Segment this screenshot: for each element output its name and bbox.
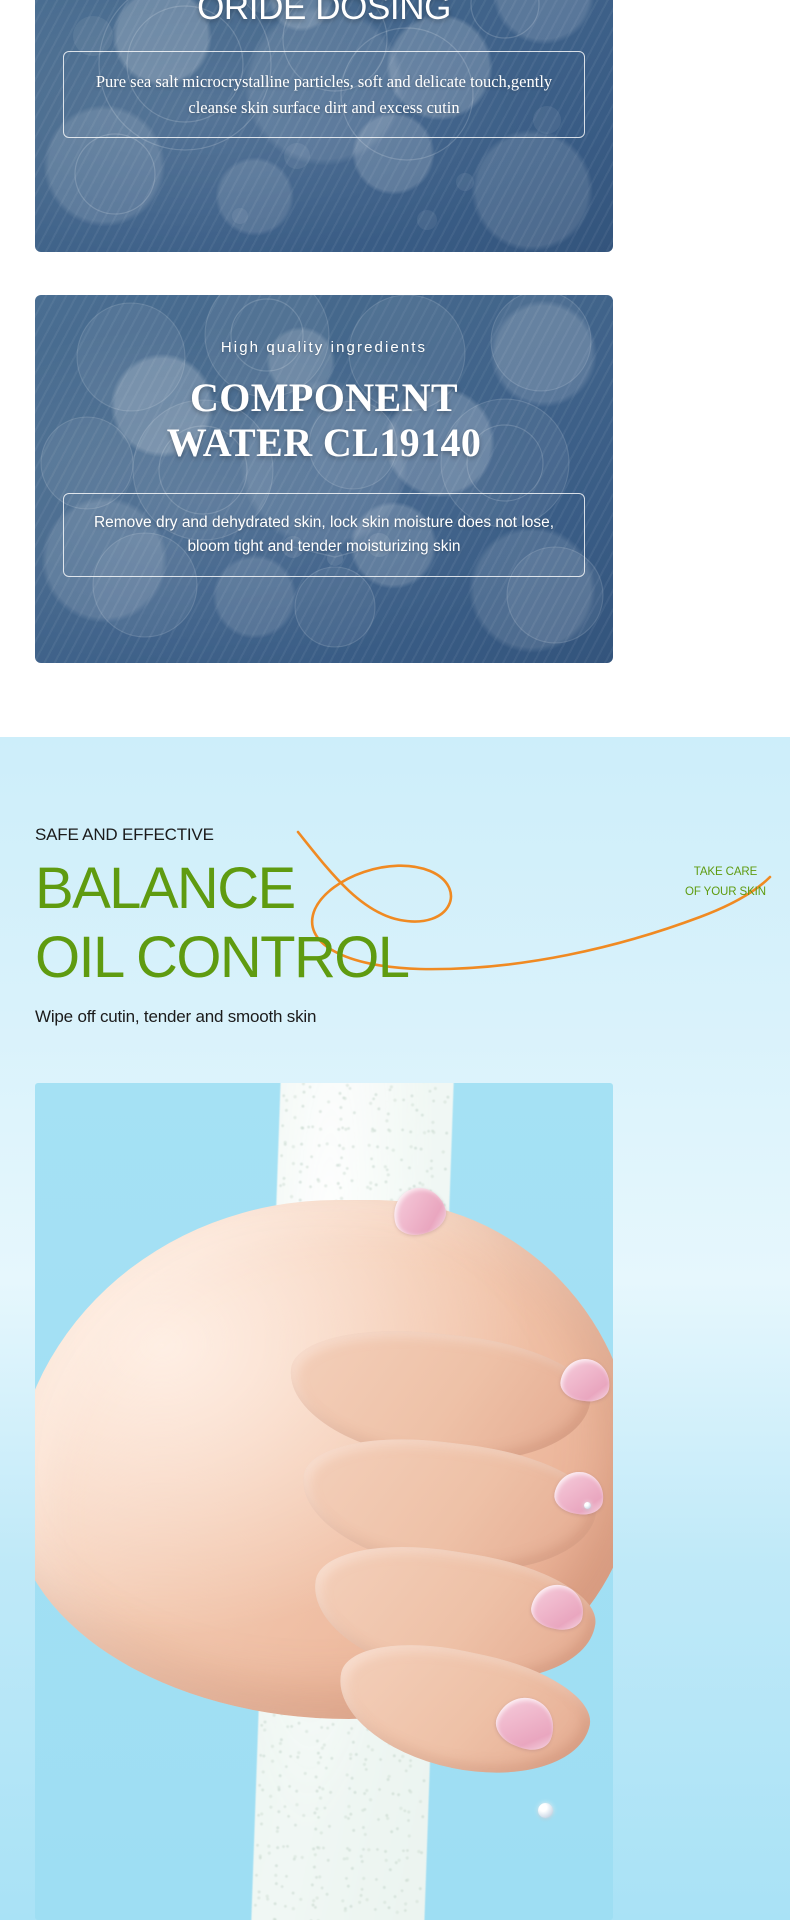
card-sodium-title: SODIUM CHL ORIDE DOSING [35, 0, 613, 27]
balance-subline: Wipe off cutin, tender and smooth skin [35, 1007, 408, 1027]
balance-headline: BALANCE OIL CONTROL [35, 859, 408, 987]
hand-scrub-photo [35, 1083, 613, 1920]
balance-copy-block: SAFE AND EFFECTIVE BALANCE OIL CONTROL W… [35, 825, 408, 1027]
card-sodium-chloride: SODIUM CHL ORIDE DOSING Pure sea salt mi… [35, 0, 613, 252]
take-care-note: TAKE CARE OF YOUR SKIN [685, 862, 766, 902]
card-component-title: COMPONENT WATER CL19140 [35, 376, 613, 466]
card-sodium-description-box: Pure sea salt microcrystalline particles… [63, 51, 585, 138]
nail-gem-icon [584, 1502, 591, 1509]
card-component-eyebrow: High quality ingredients [35, 339, 613, 356]
ring-gem-icon [538, 1803, 553, 1818]
take-care-line1: TAKE CARE [685, 862, 766, 882]
card-component-description-box: Remove dry and dehydrated skin, lock ski… [63, 493, 585, 577]
balance-headline-line1: BALANCE [35, 856, 295, 921]
card-sodium-description: Pure sea salt microcrystalline particles… [86, 69, 562, 120]
card-component-water: High quality ingredients COMPONENT WATER… [35, 295, 613, 663]
card-component-description: Remove dry and dehydrated skin, lock ski… [86, 511, 562, 559]
balance-headline-line2: OIL CONTROL [35, 928, 408, 988]
balance-kicker: SAFE AND EFFECTIVE [35, 825, 408, 845]
take-care-line2: OF YOUR SKIN [685, 882, 766, 902]
